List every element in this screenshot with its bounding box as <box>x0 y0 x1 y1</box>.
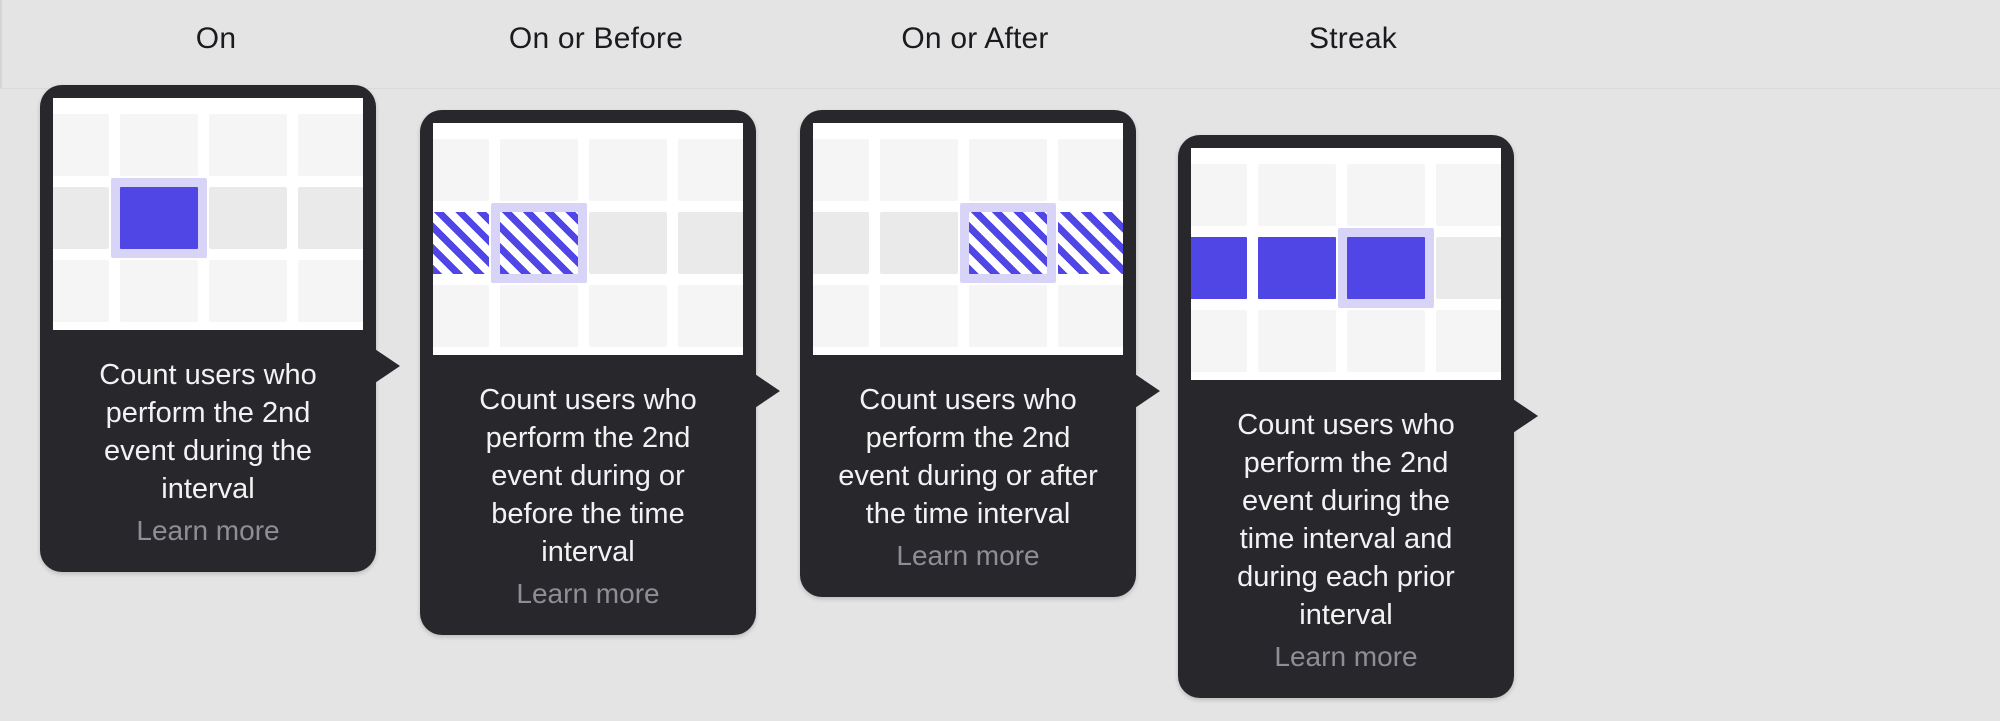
grid-cell <box>589 212 667 274</box>
grid-cell <box>120 260 198 322</box>
tooltip-pointer-tail <box>1504 393 1538 439</box>
grid-cell <box>678 212 743 274</box>
grid-cell <box>678 285 743 347</box>
card-surface: Count users who perform the 2nd event du… <box>1178 135 1514 698</box>
grid-cell <box>1058 139 1123 201</box>
grid-cell <box>589 285 667 347</box>
grid-cell <box>209 187 287 249</box>
grid-cell <box>1258 164 1336 226</box>
grid-cell <box>298 260 363 322</box>
column-title-2: On or Before <box>376 22 816 56</box>
timeline-grid <box>813 123 1123 355</box>
card-description: Count users who perform the 2nd event du… <box>833 381 1103 533</box>
comparison-card-4[interactable]: Count users who perform the 2nd event du… <box>1178 135 1514 698</box>
grid-cell <box>1258 310 1336 372</box>
hatched-interval-cell <box>1058 212 1123 274</box>
grid-cell <box>880 285 958 347</box>
card-surface: Count users who perform the 2nd event du… <box>420 110 756 635</box>
grid-cell <box>1347 310 1425 372</box>
comparison-card-2[interactable]: Count users who perform the 2nd event du… <box>420 110 756 635</box>
grid-cell <box>1347 164 1425 226</box>
card-body: Count users who perform the 2nd event du… <box>53 330 363 572</box>
grid-cell <box>1191 164 1247 226</box>
comparison-cards-stage: OnCount users who perform the 2nd event … <box>0 0 2000 721</box>
timeline-grid <box>1191 148 1501 380</box>
grid-cell <box>969 139 1047 201</box>
grid-cell <box>1058 285 1123 347</box>
timeline-grid <box>53 98 363 330</box>
comparison-card-3[interactable]: Count users who perform the 2nd event du… <box>800 110 1136 597</box>
card-surface: Count users who perform the 2nd event du… <box>800 110 1136 597</box>
filled-interval-cell <box>1258 237 1336 299</box>
grid-cell <box>433 285 489 347</box>
grid-cell <box>500 285 578 347</box>
card-description: Count users who perform the 2nd event du… <box>73 356 343 508</box>
learn-more-link[interactable]: Learn more <box>73 512 343 550</box>
grid-cell <box>880 212 958 274</box>
grid-cell <box>120 114 198 176</box>
selected-interval-cell <box>500 212 578 274</box>
diagram-panel <box>433 123 743 355</box>
grid-cell <box>500 139 578 201</box>
grid-cell <box>298 187 363 249</box>
grid-cell <box>1436 310 1501 372</box>
grid-cell <box>1191 310 1247 372</box>
tooltip-pointer-tail <box>746 368 780 414</box>
grid-cell <box>589 139 667 201</box>
card-description: Count users who perform the 2nd event du… <box>453 381 723 571</box>
card-description: Count users who perform the 2nd event du… <box>1211 406 1481 634</box>
learn-more-link[interactable]: Learn more <box>453 575 723 613</box>
diagram-panel <box>1191 148 1501 380</box>
tooltip-pointer-tail <box>1126 368 1160 414</box>
filled-interval-cell <box>1191 237 1247 299</box>
grid-cell <box>880 139 958 201</box>
card-surface: Count users who perform the 2nd event du… <box>40 85 376 572</box>
grid-cell <box>298 114 363 176</box>
grid-cell <box>433 139 489 201</box>
selected-interval-cell <box>120 187 198 249</box>
grid-cell <box>53 187 109 249</box>
comparison-card-1[interactable]: Count users who perform the 2nd event du… <box>40 85 376 572</box>
grid-cell <box>1436 164 1501 226</box>
grid-cell <box>969 285 1047 347</box>
grid-cell <box>209 114 287 176</box>
column-title-1: On <box>0 22 436 56</box>
tooltip-pointer-tail <box>366 343 400 389</box>
grid-cell <box>53 260 109 322</box>
timeline-grid <box>433 123 743 355</box>
grid-cell <box>53 114 109 176</box>
card-body: Count users who perform the 2nd event du… <box>813 355 1123 597</box>
selected-interval-cell <box>969 212 1047 274</box>
grid-cell <box>813 139 869 201</box>
learn-more-link[interactable]: Learn more <box>1211 638 1481 676</box>
hatched-interval-cell <box>433 212 489 274</box>
card-body: Count users who perform the 2nd event du… <box>433 355 743 635</box>
learn-more-link[interactable]: Learn more <box>833 537 1103 575</box>
diagram-panel <box>813 123 1123 355</box>
column-title-4: Streak <box>1133 22 1573 56</box>
grid-cell <box>209 260 287 322</box>
grid-cell <box>678 139 743 201</box>
column-title-3: On or After <box>755 22 1195 56</box>
diagram-panel <box>53 98 363 330</box>
grid-cell <box>1436 237 1501 299</box>
selected-interval-cell <box>1347 237 1425 299</box>
grid-cell <box>813 212 869 274</box>
card-body: Count users who perform the 2nd event du… <box>1191 380 1501 698</box>
grid-cell <box>813 285 869 347</box>
